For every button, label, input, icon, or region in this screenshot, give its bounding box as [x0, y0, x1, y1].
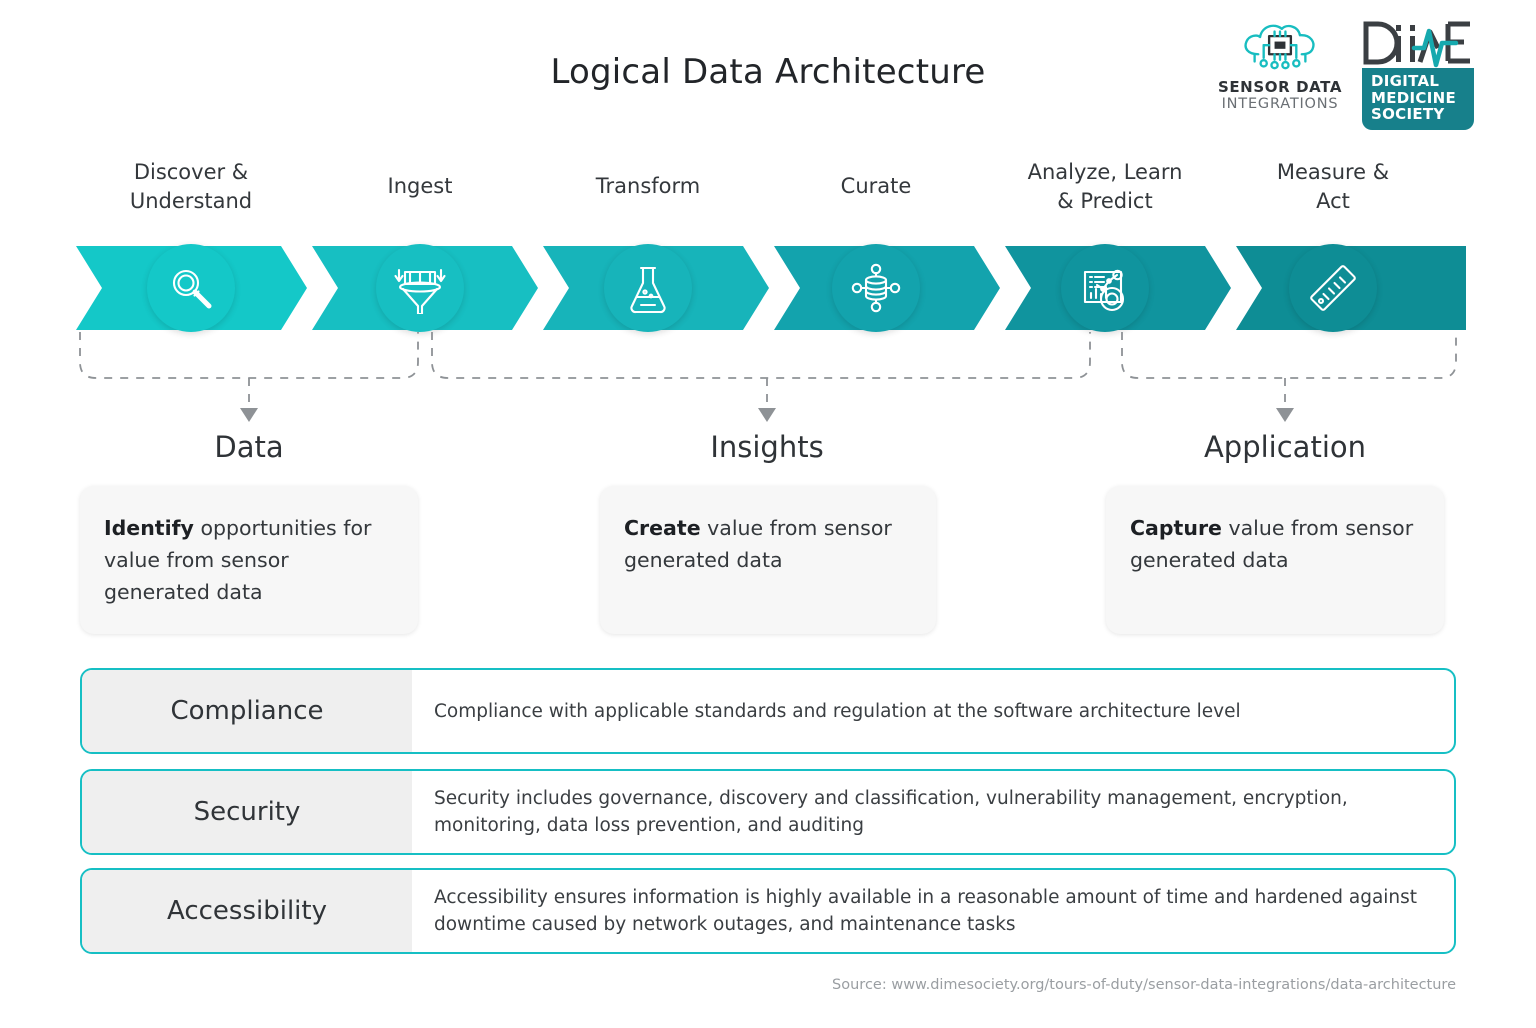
bracket-2: [432, 332, 1090, 378]
pipeline-band: [0, 246, 1536, 330]
concern-label-1: Compliance: [82, 670, 412, 752]
concern-row-3[interactable]: AccessibilityAccessibility ensures infor…: [80, 868, 1456, 954]
pipeline-stage-labels: Discover &UnderstandIngestTransformCurat…: [0, 158, 1536, 228]
ruler-icon: [1307, 262, 1359, 314]
stage-circle-6[interactable]: [1289, 244, 1377, 332]
analytics-chart-icon: [1079, 262, 1131, 314]
value-card-emphasis: Identify: [104, 516, 194, 540]
group-title-2: Insights: [567, 430, 967, 464]
concern-description-2: Security includes governance, discovery …: [412, 771, 1454, 853]
bracket-arrow-3: [1276, 408, 1294, 422]
bracket-1: [80, 332, 418, 378]
stage-label-3: Transform: [518, 172, 778, 201]
dime-line1: DIGITAL: [1371, 73, 1466, 90]
concern-row-1[interactable]: ComplianceCompliance with applicable sta…: [80, 668, 1456, 754]
stage-circle-2[interactable]: [376, 244, 464, 332]
group-title-1: Data: [49, 430, 449, 464]
logo-group: SENSOR DATA INTEGRATIONS DIGITAL MEDICIN…: [1214, 18, 1474, 130]
value-card-2: Create value from sensor generated data: [600, 486, 936, 634]
concern-label-3: Accessibility: [82, 870, 412, 952]
database-nodes-icon: [850, 262, 902, 314]
stage-label-4: Curate: [746, 172, 1006, 201]
stage-circle-3[interactable]: [604, 244, 692, 332]
concern-description-1: Compliance with applicable standards and…: [412, 670, 1454, 752]
chevron-tip: [1462, 246, 1466, 330]
value-card-emphasis: Create: [624, 516, 701, 540]
stage-label-2: Ingest: [290, 172, 550, 201]
stage-label-5: Analyze, Learn& Predict: [975, 158, 1235, 216]
flask-icon: [622, 262, 674, 314]
value-card-emphasis: Capture: [1130, 516, 1222, 540]
sdi-logo-line1: SENSOR DATA: [1214, 78, 1346, 96]
bracket-arrow-2: [758, 408, 776, 422]
concern-row-2[interactable]: SecuritySecurity includes governance, di…: [80, 769, 1456, 855]
sensor-data-integrations-logo: SENSOR DATA INTEGRATIONS: [1214, 18, 1346, 112]
cloud-chip-icon: [1214, 18, 1346, 76]
sdi-logo-line2: INTEGRATIONS: [1214, 96, 1346, 112]
group-title-3: Application: [1085, 430, 1485, 464]
stage-label-1: Discover &Understand: [61, 158, 321, 216]
dime-logo-text: DIGITAL MEDICINE SOCIETY: [1362, 68, 1474, 130]
stage-label-6: Measure &Act: [1203, 158, 1463, 216]
funnel-icon: [394, 262, 446, 314]
source-citation: Source: www.dimesociety.org/tours-of-dut…: [832, 977, 1456, 993]
value-card-1: Identify opportunities for value from se…: [80, 486, 418, 634]
group-brackets: [0, 330, 1536, 430]
dime-wordmark-icon: [1362, 18, 1474, 68]
stage-circle-5[interactable]: [1061, 244, 1149, 332]
concern-description-3: Accessibility ensures information is hig…: [412, 870, 1454, 952]
dime-line3: SOCIETY: [1371, 106, 1466, 123]
stage-circle-1[interactable]: [147, 244, 235, 332]
bracket-3: [1122, 332, 1456, 378]
value-card-3: Capture value from sensor generated data: [1106, 486, 1444, 634]
concern-label-2: Security: [82, 771, 412, 853]
magnifier-icon: [165, 262, 217, 314]
dime-logo: DIGITAL MEDICINE SOCIETY: [1362, 18, 1474, 130]
bracket-arrow-1: [240, 408, 258, 422]
stage-circle-4[interactable]: [832, 244, 920, 332]
dime-line2: MEDICINE: [1371, 90, 1466, 107]
